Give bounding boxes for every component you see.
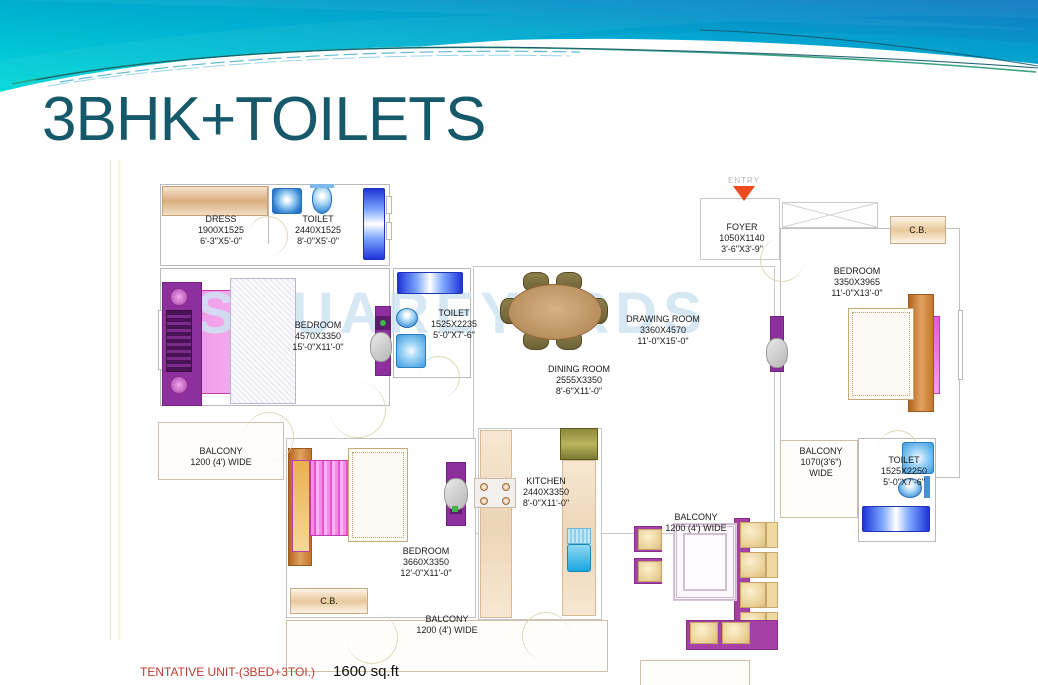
- slide-root: 3BHK+TOILETS SQUAREYARDS: [0, 0, 1038, 685]
- bathtub-toilet3-icon: [862, 506, 930, 532]
- label-foyer: FOYER 1050X1140 3'-6"X3'-9": [700, 222, 784, 255]
- label-bedroom-3: BEDROOM 3660X3350 12'-0"X11'-0": [380, 546, 472, 579]
- label-drawing-room: DRAWING ROOM 3360X4570 11'-0"X15'-0": [604, 314, 722, 347]
- label-dress: DRESS 1900X1525 6'-3"X5'-0": [176, 214, 266, 247]
- footer-caption: TENTATIVE UNIT-(3BED+3TOI.) 1600 sq.ft: [140, 663, 399, 680]
- cistern-icon: [310, 184, 334, 188]
- bed1-lamp-top: [170, 288, 188, 306]
- toilet-wc-icon: [312, 186, 332, 214]
- door-arc-kitchen: [522, 612, 570, 660]
- bed3-rug: [348, 448, 408, 542]
- bed3-pillows: [292, 460, 310, 552]
- label-toilet-3: TOILET 1525X2250 5'-0"X7'-6": [864, 455, 944, 488]
- armchair-2-cushion: [638, 561, 662, 582]
- label-bedroom-1: BEDROOM 4570X3350 15'-0"X11'-0": [272, 320, 364, 353]
- window-foyer: [782, 202, 878, 228]
- area-label: 1600 sq.ft: [333, 663, 399, 680]
- entry-arrow-icon: [733, 186, 755, 201]
- label-dining-room: DINING ROOM 2555X3350 8'-6"X11'-0": [524, 364, 634, 397]
- sofa-seat-1: [766, 522, 778, 548]
- dining-table: [508, 284, 602, 340]
- banner-waves: [0, 0, 1038, 92]
- cupboard-right: C.B.: [890, 216, 946, 244]
- bedroom2-rug: [848, 308, 914, 400]
- cupboard-bottom-label: C.B.: [320, 596, 338, 606]
- guide-line-left-2: [118, 160, 121, 640]
- cupboard-bottom: C.B.: [290, 588, 368, 614]
- guide-line-left: [110, 160, 111, 640]
- header-banner-graphic: [0, 0, 1038, 92]
- label-balcony-bottom: BALCONY 1200 (4') WIDE: [392, 614, 502, 636]
- bathtub-toilet2-icon: [397, 272, 463, 294]
- dress-counter: [162, 186, 268, 216]
- sofa-seat-3: [766, 582, 778, 608]
- label-balcony-left: BALCONY 1200 (4') WIDE: [170, 446, 272, 468]
- sofa-seat-2: [766, 552, 778, 578]
- window-x-lines: [783, 203, 877, 227]
- kitchen-sink-drainer: [567, 528, 591, 544]
- sofa-bottom-cushion-1: [690, 622, 718, 644]
- label-balcony-right: BALCONY 1070(3'6") WIDE: [786, 446, 856, 479]
- entry-label: ENTRY: [718, 176, 770, 185]
- hob-burner-3: [480, 497, 488, 505]
- window-toilet1-a: [386, 196, 392, 214]
- bedroom1-accent-dot: [380, 320, 386, 326]
- living-carpet-inner: [683, 533, 727, 591]
- bed1-lamp-bottom: [170, 376, 188, 394]
- kitchen-fridge: [560, 428, 598, 460]
- cupboard-right-label: C.B.: [909, 225, 927, 235]
- label-kitchen: KITCHEN 2440X3350 8'-0"X11'-0": [500, 476, 592, 509]
- bedroom2-rug-inner: [852, 312, 910, 396]
- caption-row: TENTATIVE UNIT-(3BED+3TOI.) 1600 sq.ft: [140, 663, 399, 680]
- hob-burner-1: [480, 483, 488, 491]
- bedroom2-chair: [766, 338, 788, 368]
- wc-toilet2-icon: [396, 308, 418, 328]
- entry-marker: ENTRY: [718, 176, 770, 201]
- page-title: 3BHK+TOILETS: [42, 86, 485, 154]
- kitchen-counter-left: [480, 430, 512, 618]
- bedroom3-accent-dot: [452, 506, 458, 512]
- bed1-headboard-pattern: [166, 310, 192, 372]
- sofa-cushion-3: [740, 582, 766, 608]
- window-toilet1-b: [386, 222, 392, 240]
- label-balcony-center: BALCONY 1200 (4') WIDE: [648, 512, 744, 534]
- bedroom1-chair: [370, 332, 392, 362]
- tentative-unit-label: TENTATIVE UNIT-(3BED+3TOI.): [140, 665, 315, 679]
- door-arc-bedroom3: [346, 612, 398, 664]
- label-toilet-2: TOILET 1525X2235 5'-0"X7'-6": [418, 308, 490, 341]
- bathtub-icon: [363, 188, 385, 260]
- window-bedroom2: [958, 310, 963, 380]
- door-arc-bedroom1: [330, 382, 386, 438]
- sofa-bottom-cushion-2: [722, 622, 750, 644]
- kitchen-sink: [567, 544, 591, 572]
- floor-plan-canvas: SQUAREYARDS: [0, 160, 1038, 660]
- bed3-rug-inner: [352, 452, 404, 538]
- washbasin-icon: [272, 188, 302, 214]
- living-carpet: [674, 524, 736, 600]
- label-bedroom-2: BEDROOM 3350X3965 11'-0"X13'-0": [812, 266, 902, 299]
- label-toilet-1: TOILET 2440X1525 8'-0"X5'-0": [272, 214, 364, 247]
- balcony-center-box: [640, 660, 750, 685]
- sofa-cushion-2: [740, 552, 766, 578]
